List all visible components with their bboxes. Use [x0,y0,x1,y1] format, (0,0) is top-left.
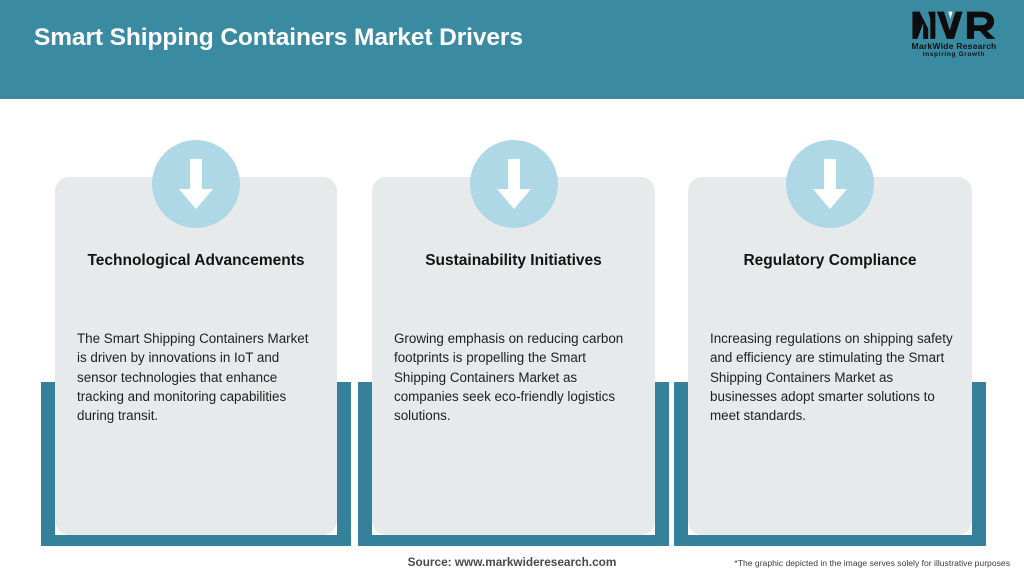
card-body-text: Growing emphasis on reducing carbon foot… [394,329,637,425]
card-surface: Sustainability Initiatives Growing empha… [372,177,655,535]
card-body-text: The Smart Shipping Containers Market is … [77,329,319,425]
driver-card-1[interactable]: Technological Advancements The Smart Shi… [41,177,351,546]
arrow-down-glyph [493,157,535,211]
logo-tagline: Inspiring Growth [902,51,1006,59]
arrow-down-glyph [809,157,851,211]
arrow-down-icon [786,140,874,228]
card-body-text: Increasing regulations on shipping safet… [710,329,954,425]
driver-card-3[interactable]: Regulatory Compliance Increasing regulat… [674,177,986,546]
driver-card-2[interactable]: Sustainability Initiatives Growing empha… [358,177,669,546]
slide-canvas: Smart Shipping Containers Market Drivers… [0,0,1024,576]
card-title: Technological Advancements [63,251,329,271]
page-title: Smart Shipping Containers Market Drivers [34,24,523,52]
mwr-logo-icon [911,8,997,41]
card-title: Sustainability Initiatives [380,251,647,271]
arrow-down-icon [152,140,240,228]
arrow-down-glyph [175,157,217,211]
card-surface: Technological Advancements The Smart Shi… [55,177,337,535]
arrow-down-icon [470,140,558,228]
card-title: Regulatory Compliance [696,251,964,271]
brand-logo: MarkWide Research Inspiring Growth [902,8,1006,66]
card-surface: Regulatory Compliance Increasing regulat… [688,177,972,535]
disclaimer-note: *The graphic depicted in the image serve… [734,558,1010,568]
header-bar: Smart Shipping Containers Market Drivers… [0,0,1024,99]
logo-company-name: MarkWide Research [902,41,1006,51]
